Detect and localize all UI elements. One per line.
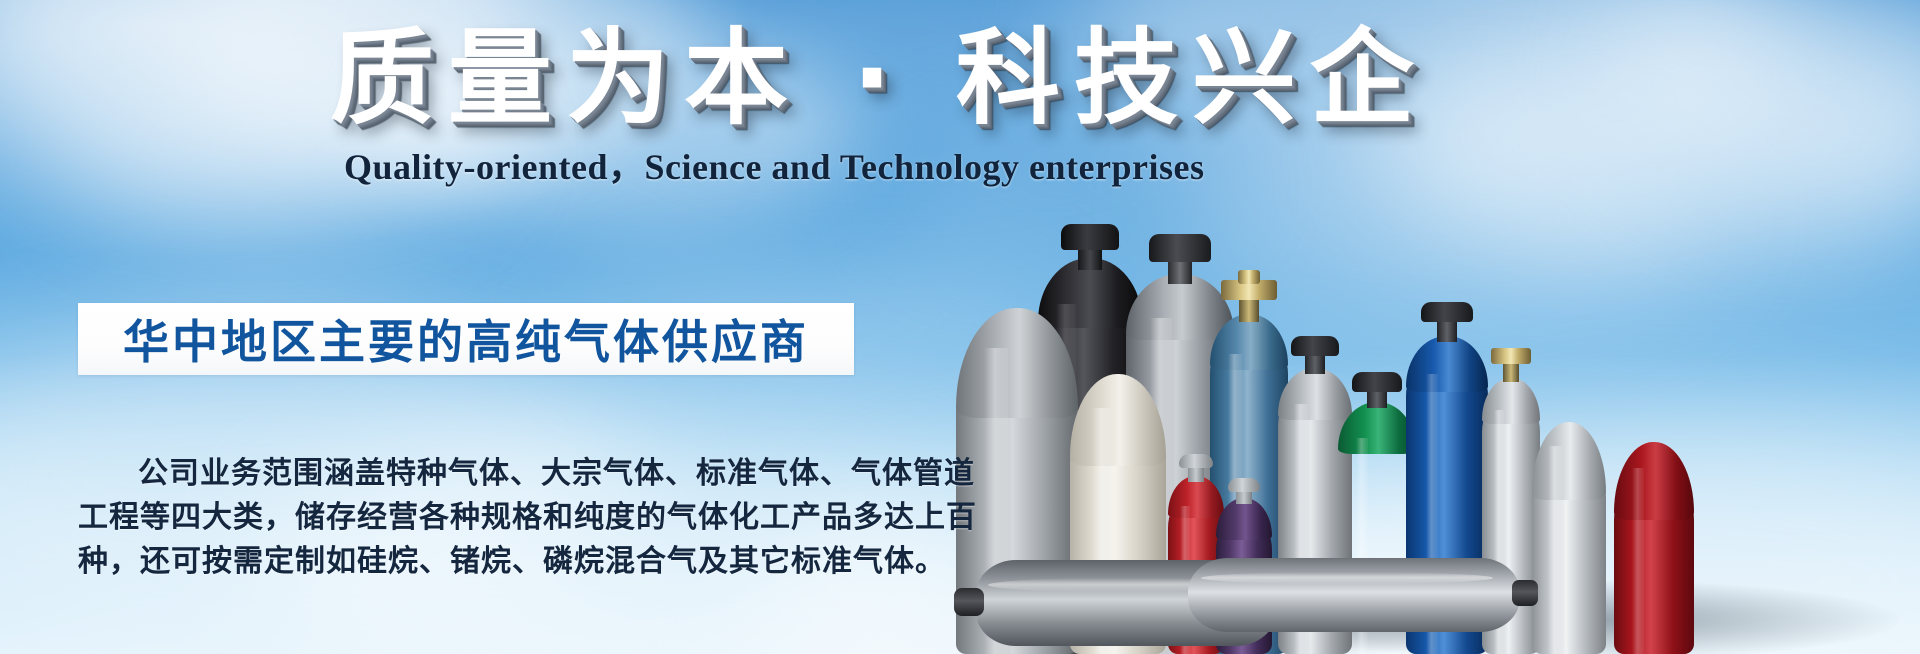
cylinder-shoulder	[1070, 374, 1166, 466]
cylinder-shoulder	[1532, 422, 1606, 500]
body-line: 公司业务范围涵盖特种气体、大宗气体、标准气体、气体管道	[78, 452, 868, 496]
cylinder-valve-cap	[1352, 372, 1402, 392]
promo-banner: 质量为本 · 科技兴企 Quality-oriented，Science and…	[0, 0, 1920, 654]
tagline-box: 华中地区主要的高纯气体供应商	[78, 303, 854, 375]
cylinder-neck	[1239, 298, 1259, 322]
cylinder-body	[1188, 558, 1520, 632]
cylinder-valve-cap	[1179, 454, 1213, 468]
cylinder-neck	[1503, 362, 1519, 382]
cylinder-short-aluminium	[1532, 422, 1606, 654]
cylinder-valve-cap	[1149, 234, 1211, 262]
cylinder-brass-valve	[1491, 348, 1531, 364]
cylinder-dark-red	[1614, 442, 1694, 654]
cylinder-valve-cap	[1061, 224, 1119, 250]
cylinder-shoulder	[956, 308, 1078, 418]
page-title: 质量为本 · 科技兴企	[330, 22, 1290, 134]
cylinder-horizontal-silver	[1188, 558, 1520, 632]
cylinder-shoulder	[1614, 442, 1694, 520]
cylinder-valve-cap	[1291, 336, 1339, 356]
page-subtitle: Quality-oriented，Science and Technology …	[344, 138, 1324, 190]
cylinder-valve	[1512, 580, 1538, 606]
cylinder-valve	[954, 588, 984, 616]
cylinder-valve-cap	[1421, 302, 1473, 322]
cylinder-shoulder	[1210, 314, 1288, 370]
cylinder-shoulder	[1482, 378, 1540, 424]
cylinder-valve-knob	[1238, 270, 1260, 284]
body-line: 种，还可按需定制如硅烷、锗烷、磷烷混合气及其它标准气体。	[78, 540, 868, 584]
body-line: 工程等四大类，储存经营各种规格和纯度的气体化工产品多达上百	[78, 496, 868, 540]
cylinder-shoulder	[1216, 498, 1272, 540]
tagline-text: 华中地区主要的高纯气体供应商	[78, 303, 854, 375]
cylinder-shoulder	[1406, 336, 1488, 392]
cylinder-valve-cap	[1228, 478, 1260, 492]
body-paragraph: 公司业务范围涵盖特种气体、大宗气体、标准气体、气体管道 工程等四大类，储存经营各…	[78, 452, 868, 584]
cylinder-shoulder	[1338, 402, 1416, 454]
